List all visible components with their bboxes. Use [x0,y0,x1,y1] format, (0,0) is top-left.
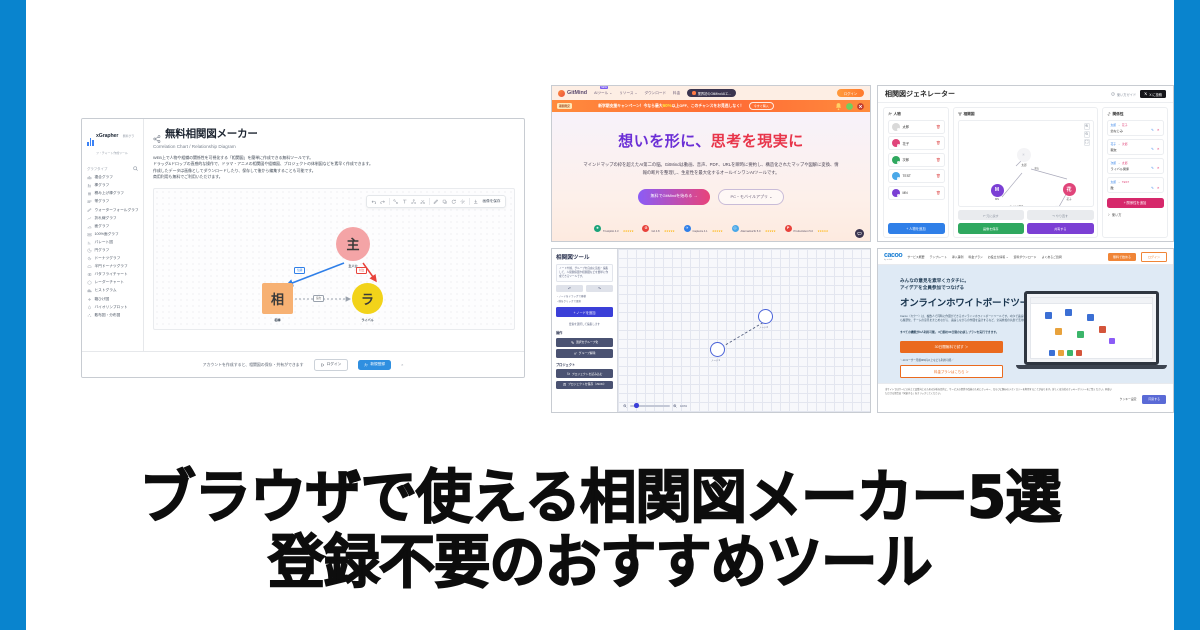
nav-item-ai-tools[interactable]: AIツール ⌄ NEW [594,91,612,96]
group-selection-button[interactable]: 選択をグループ化 [556,338,613,347]
rating-site-name: AlternativeTo 5.0 [741,230,761,233]
cacoo-logo[interactable]: cacoo by nulab [884,252,902,261]
node-mn[interactable]: M [991,184,1004,197]
gitmind-logo-icon [558,90,565,97]
xgrapher-sidebar: xGrapher 無料グラフ・チャート作成ツール グラフタイプ 複合グラフ 棒グ… [82,119,144,351]
sidebar-item-label: 積み上げ棒グラフ [95,191,125,196]
login-button[interactable]: ログイン [314,359,349,371]
chart-type-icon [87,305,92,310]
history-buttons: ↶ ↷ [556,285,613,292]
sidebar-item-12[interactable]: バタフライチャート [85,271,140,279]
person-name: 花子 [903,141,910,146]
arrow-icon: → [1118,142,1121,146]
sidebar-item-label: 散布図・分布図 [95,313,121,318]
relation-row-1[interactable]: 花子 → 次郎 親友 ✎ ✕ [1107,139,1164,156]
chart-type-icon [87,175,92,180]
diagram-edges [154,189,514,329]
arrow-icon: → [1118,123,1121,127]
gitmind-logo[interactable]: GitMind [558,90,587,97]
add-relation-button[interactable]: + 関係性を追加 [1107,198,1164,208]
avatar [892,189,900,197]
brand-name: xGrapher [96,133,118,139]
rating-site-name: Trustpilot 4.3 [603,230,618,233]
sidebar-section-label: グラフタイプ [87,166,107,171]
nav-item-6[interactable]: よくあるご質問 [1042,255,1062,259]
promo-button[interactable]: 今すぐ購入 [749,102,774,110]
sidebar-item-9[interactable]: 円グラフ [85,246,140,254]
sidebar-item-13[interactable]: レーダーチャート [85,279,140,287]
delete-relation-icon[interactable]: ✕ [1157,166,1160,170]
relation-to: 太郎 [1122,161,1128,165]
delete-relation-icon[interactable]: ✕ [1157,147,1160,151]
relation-from: 花子 [1111,142,1117,146]
delete-relation-icon[interactable]: ✕ [1157,128,1160,132]
rating-badge-2[interactable]: ✈ Capterra 4.1 ★★★★★ [684,219,723,237]
xgrapher-main: 無料相関図メーカー Correlation Chart / Relationsh… [144,119,524,351]
group-section-label: 操作 [556,330,613,335]
relation-label: 幼なじみ [1111,128,1123,133]
thumbnail-canvas: xGrapher 無料グラフ・チャート作成ツール グラフタイプ 複合グラフ 棒グ… [0,0,1200,630]
cookie-settings-button[interactable]: クッキー設定 [1120,397,1137,401]
login-icon [321,363,325,367]
usage-guide-link[interactable]: 使い方ガイド [1111,92,1136,97]
person-name: 太郎 [903,124,910,129]
ungroup-button[interactable]: グループ解除 [556,349,613,358]
rating-badge-1[interactable]: G G2 4.8 ★★★★★ [642,219,674,237]
nav-item-0[interactable]: サービス概要 [907,255,924,259]
arrow-icon: → [1118,180,1121,184]
whiteboard-preview [1030,297,1153,359]
headline-line-2: 登録不要のおすすめツール [43,530,1157,596]
sidebar-item-5[interactable]: 折れ線グラフ [85,214,140,222]
relation-endpoints: 太郎 → TEST [1111,180,1160,184]
sidebar-item-label: 箱ひげ図 [95,297,110,302]
generator-header: 相関図ジェネレーター 使い方ガイド X に投稿 [878,86,1173,103]
zoom-slider[interactable] [630,405,670,407]
trial-button[interactable]: 30日間無料で試す ＞ [900,341,1003,353]
apps-dropdown-button[interactable]: PC・モバイルアプリ ⌄ [718,189,784,205]
promo-banner[interactable]: 期間限定 新学期支援キャンペーン！今なら最大60%以上OFF、このチャンスをお見… [552,100,870,112]
diagram-edge-label[interactable]: 協力 [313,295,324,302]
node-label: 花子 [1062,197,1077,201]
brand-sub: by nulab [884,259,902,261]
edit-relation-icon[interactable]: ✎ [1151,166,1154,170]
tool-sidebar: 相関図ツール ノードや線、グループを自由に追加・編集して、人間関係図や相関図など… [552,249,618,412]
edit-relation-icon[interactable]: ✎ [1151,128,1154,132]
rating-badges: ★ Trustpilot 4.3 ★★★★★ G G2 4.8 ★★★★★ ✈ … [552,219,870,237]
sidebar-item-16[interactable]: バイオリンプロット [85,303,140,311]
zoom-in-icon[interactable] [673,404,677,408]
sidebar-item-label: パレート図 [95,240,113,245]
zoom-control: 100% [623,404,687,408]
help-icon [1111,92,1115,96]
sidebar-item-17[interactable]: 散布図・分布図 [85,311,140,319]
headline-block: ブラウザで使える相関図メーカー5選 登録不要のおすすめツール [26,465,1174,596]
sidebar-item-0[interactable]: 複合グラフ [85,174,140,182]
share-button[interactable]: 共有する [1027,223,1094,233]
sidebar-item-label: 半円ドーナツグラフ [95,264,128,269]
people-panel: 人物 太郎 🗑 花子 🗑 次郎 🗑 TEST 🗑 MN 🗑 + 人物を追加 [883,107,949,238]
rating-badge-3[interactable]: ◎ AlternativeTo 5.0 ★★★★★ [732,219,776,237]
sidebar-item-label: 複合グラフ [95,175,113,180]
avatar [892,139,900,147]
hero-title: 想いを形に、思考を現実に [552,130,870,151]
relations-list: 太郎 → 花子 幼なじみ ✎ ✕ 花子 → 次郎 親友 ✎ ✕ 次郎 → [1107,120,1164,196]
chart-type-icon [87,248,92,253]
delete-person-icon[interactable]: 🗑 [936,174,941,178]
chart-type-icon [87,240,92,245]
sidebar-item-label: 棒グラフ [95,183,110,188]
folder-open-icon [567,372,570,375]
sidebar-item-label: 100%面グラフ [95,232,119,237]
people-list: 太郎 🗑 花子 🗑 次郎 🗑 TEST 🗑 MN 🗑 [888,120,945,203]
rating-stars: ★★★★★ [664,230,675,233]
sidebar-item-label: 面グラフ [95,224,110,229]
cacoo-hero: みんなの意見を素早くカタチに。 アイデアを全員参加でつなげる オンラインホワイト… [878,265,1173,383]
nav-item-1[interactable]: テンプレート [930,255,947,259]
screenshot-gitmind: GitMind AIツール ⌄ NEW リソース ⌄ ダウンロード 料金 業界初… [551,85,871,242]
edit-relation-icon[interactable]: ✎ [1151,186,1154,190]
nav-item-resources[interactable]: リソース ⌄ [619,91,637,96]
save-disk-icon [563,383,566,386]
page-title: 無料相関図メーカー [165,126,258,141]
howto-section[interactable]: 使い方 [1107,212,1164,217]
relation-row-0[interactable]: 太郎 → 花子 幼なじみ ✎ ✕ [1107,120,1164,137]
rating-badge-0[interactable]: ★ Trustpilot 4.3 ★★★★★ [594,219,633,237]
chart-type-icon [87,199,92,204]
delete-relation-icon[interactable]: ✕ [1157,186,1160,190]
correlation-canvas[interactable]: M MN 花 花子 T TEST 次 次郎 ✳ 太郎 親友 ライバル関係 対立 [958,120,1094,208]
chart-panel-header: 相関図 [958,112,1094,117]
nav-announcement-label: 業界初のGitMind AIエ... [698,91,731,96]
rating-site-icon: G [642,225,649,232]
signup-button[interactable]: 新規登録 [358,360,391,370]
screenshot-correlation-generator: 相関図ジェネレーター 使い方ガイド X に投稿 人物 太郎 [877,85,1174,242]
chart-type-icon [87,232,92,237]
login-button[interactable]: ログイン [1141,252,1167,262]
chart-type-icon [87,208,92,213]
selection-note: 要素を選択して編集します [556,322,613,326]
xgrapher-footer-bar: アカウントを作成すると、相関図の保存・共有ができます ログイン 新規登録 × [82,351,524,377]
x-logo-icon [1144,92,1147,95]
edge-label: ライバル関係 [1010,204,1024,208]
person-row-0[interactable]: 太郎 🗑 [888,120,945,134]
delete-person-icon[interactable]: 🗑 [936,125,941,129]
relations-panel-header: 関係性 [1107,112,1164,117]
gift-icon [845,102,854,111]
close-icon[interactable] [856,102,865,111]
arrow-icon: → [1118,161,1121,165]
undo-button[interactable]: ↶ [556,285,583,292]
relation-endpoints: 花子 → 次郎 [1111,142,1160,146]
sidebar-item-4[interactable]: ウォーターフォールグラフ [85,206,140,214]
relations-panel: 関係性 太郎 → 花子 幼なじみ ✎ ✕ 花子 → 次郎 親友 ✎ ✕ [1102,107,1168,238]
sidebar-item-label: ドーナツグラフ [95,256,121,261]
nav-item-4[interactable]: お役立ち情報 ⌄ [988,255,1009,259]
load-project-button[interactable]: プロジェクトを読み込む [556,369,613,378]
rating-stars: ★★★★★ [765,230,776,233]
diagram-node-caption: 相棒 [262,317,293,322]
rating-stars: ★★★★★ [623,230,634,233]
edit-relation-icon[interactable]: ✎ [1151,147,1154,151]
export-buttons: 画像を保存 共有する [958,223,1094,233]
sidebar-item-3[interactable]: 帯グラフ [85,198,140,206]
relation-from: 太郎 [1111,180,1117,184]
relation-endpoints: 次郎 → 太郎 [1111,161,1160,165]
share-x-button[interactable]: X に投稿 [1140,90,1166,98]
sidebar-item-8[interactable]: パレート図 [85,238,140,246]
rating-site-name: ProductHunt 5.0 [794,230,813,233]
history-buttons: ↶ 元に戻す ↷ やり直す [958,210,1094,220]
promo-icon-group [834,102,865,111]
user-plus-icon [364,363,368,367]
promo-tag: 期間限定 [557,103,572,108]
chart-type-icon [87,297,92,302]
person-row-3[interactable]: TEST 🗑 [888,169,945,183]
network-icon [958,112,962,116]
cookie-banner: 当サイトではサービス向上と品質向上のための分析を目的に、サービスの提供や改善のた… [878,383,1173,413]
relation-row-2[interactable]: 次郎 → 太郎 ライバル関係 ✎ ✕ [1107,158,1164,175]
rating-badge-4[interactable]: P ProductHunt 5.0 ★★★★★ [785,219,828,237]
rating-site-icon: ✈ [684,225,691,232]
nav-item-3[interactable]: 料金プラン [968,255,982,259]
xgrapher-logo[interactable]: xGrapher 無料グラフ・チャート作成ツール [85,123,140,163]
sidebar-item-label: 円グラフ [95,248,110,253]
relation-from: 太郎 [1111,123,1117,127]
person-name: 次郎 [903,157,910,162]
sidebar-item-label: レーダーチャート [95,280,124,285]
avatar [892,156,900,164]
sidebar-item-6[interactable]: 面グラフ [85,222,140,230]
diagram-node-rival[interactable]: ラ [352,283,383,314]
laptop-screen [1024,291,1159,365]
promo-text: 新学期支援キャンペーン！今なら最大60%以上OFF、このチャンスをお見逃しなく！ [598,103,744,109]
sidebar-item-2[interactable]: 積み上げ棒グラフ [85,190,140,198]
zoom-out-icon[interactable] [623,404,627,408]
chart-type-icon [87,313,92,318]
nav-item-download[interactable]: ダウンロード [644,91,666,96]
canvas-node-label: ノード2 [759,325,768,329]
chat-fab-button[interactable] [855,229,864,238]
avatar [892,172,900,180]
relation-row-3[interactable]: 太郎 → TEST 敵 ✎ ✕ [1107,177,1164,194]
save-image-button[interactable]: 画像を保存 [958,223,1025,233]
ungroup-icon [574,352,577,355]
edge-label: 親友 [1035,166,1040,170]
chart-type-icon [87,288,92,293]
node-hanako[interactable]: 花 [1063,183,1076,196]
redo-button[interactable]: ↷ [586,285,613,292]
sidebar-item-15[interactable]: 箱ひげ図 [85,295,140,303]
chat-icon [857,231,862,236]
brand-name: GitMind [567,90,587,96]
delete-person-icon[interactable]: 🗑 [936,141,941,145]
rating-stars: ★★★★★ [817,230,828,233]
signup-label: 新規登録 [370,362,385,367]
sidebar-item-11[interactable]: 半円ドーナツグラフ [85,263,140,271]
sidebar-item-label: バタフライチャート [95,272,128,277]
sidebar-item-label: ウォーターフォールグラフ [95,208,139,213]
relation-endpoints: 太郎 → 花子 [1111,123,1160,127]
login-button[interactable]: ログイン [837,89,864,98]
hero-cta-group: 無料でGitMindを始める → PC・モバイルアプリ ⌄ [552,189,870,205]
nav-item-2[interactable]: 導入事例 [952,255,964,259]
sparkle-icon [692,91,696,95]
sidebar-item-label: バイオリンプロット [95,305,128,310]
add-node-button[interactable]: + ノードを追加 [556,307,613,317]
sidebar-item-14[interactable]: ヒストグラム [85,287,140,295]
app-title: 相関図ツール [556,253,613,261]
laptop-base [1016,365,1167,369]
sidebar-item-list: 複合グラフ 棒グラフ 積み上げ棒グラフ 帯グラフ ウォーターフォールグラフ 折れ… [85,174,140,320]
screenshot-cacoo: cacoo by nulab サービス概要 テンプレート 導入事例 料金プラン … [877,248,1174,413]
sidebar-item-7[interactable]: 100%面グラフ [85,230,140,238]
avatar [892,123,900,131]
chevron-right-icon [1107,213,1110,216]
redo-button[interactable]: ↷ やり直す [1027,210,1094,220]
rating-site-icon: P [785,225,792,232]
nav-item-5[interactable]: 資料ダウンロード [1013,255,1036,259]
chart-type-icon [87,224,92,229]
sidebar-item-label: 折れ線グラフ [95,216,117,221]
canvas-node-2[interactable] [758,309,773,324]
chart-type-icon [87,272,92,277]
page-subtitle: Correlation Chart / Relationship Diagram [153,144,515,149]
rating-stars: ★★★★★ [712,230,723,233]
relation-label: 敵 [1111,185,1114,190]
login-label: ログイン [327,362,342,367]
chart-type-icon [87,264,92,269]
hero-description: マインドマップの枠を超えたAI第二の脳。GitMindは動画、音声、PDF、UR… [552,161,870,176]
relation-to: TEST [1122,180,1129,184]
sidebar-item-label: 帯グラフ [95,199,110,204]
canvas-node-label: ノード1 [711,358,720,362]
new-badge: NEW [600,86,608,90]
node-taro[interactable]: ✳ [1017,148,1031,162]
relation-label: 親友 [1111,147,1117,152]
description-line-3: 商用利用も無料でご利用いただけます。 [153,174,515,180]
page-title-row: 無料相関図メーカー [153,126,515,141]
person-name: TEST [903,174,911,178]
chart-type-icon [87,216,92,221]
node-label: MN [991,198,1004,201]
person-row-2[interactable]: 次郎 🗑 [888,153,945,167]
chart-type-icon [87,256,92,261]
chart-type-icon [87,280,92,285]
search-icon[interactable] [133,166,138,172]
undo-button[interactable]: ↶ 元に戻す [958,210,1025,220]
zoom-percent: 100% [680,404,687,408]
rating-site-name: Capterra 4.1 [693,230,708,233]
relation-to: 花子 [1122,123,1128,127]
hint-line-1: ・ノードをドラッグで移動 [556,295,613,299]
chart-type-icon [87,191,92,196]
cookie-accept-button[interactable]: 同意する [1142,395,1166,404]
group-icon [571,341,574,344]
diagram-edge-label[interactable]: 信頼 [294,267,305,274]
people-panel-header: 人物 [888,112,945,117]
relation-from: 次郎 [1111,161,1117,165]
tool-canvas-edges [618,249,870,412]
add-person-button[interactable]: + 人物を追加 [888,223,945,233]
footer-note: アカウントを作成すると、相関図の保存・共有ができます [203,362,304,368]
bar-chart-logo-icon [87,138,94,146]
relation-to: 次郎 [1122,142,1128,146]
save-project-button[interactable]: プロジェクトを保存（JSON） [556,381,613,389]
rating-site-name: G2 4.8 [651,230,659,233]
chart-type-icon [87,183,92,188]
page-description: WEB上で人物や組織の関係性を可視化する「相関図」を簡単に作成できる無料ツールで… [153,155,515,181]
share-nodes-icon [153,130,161,138]
sidebar-item-1[interactable]: 棒グラフ [85,182,140,190]
start-free-button[interactable]: 無料で始める [1108,253,1136,261]
rating-site-icon: ★ [594,225,601,232]
link-icon [1107,112,1111,116]
cacoo-navbar: cacoo by nulab サービス概要 テンプレート 導入事例 料金プラン … [878,249,1173,265]
node-label: 太郎 [1015,163,1034,167]
app-title: 相関図ジェネレーター [885,89,955,99]
diagram-node-partner[interactable]: 相 [262,283,293,314]
nav-item-pricing[interactable]: 料金 [673,91,680,96]
edge-label: 対立 [1055,205,1060,208]
sidebar-item-10[interactable]: ドーナツグラフ [85,255,140,263]
start-free-button[interactable]: 無料でGitMindを始める → [638,189,711,205]
diagram-edge-label[interactable]: 対立 [356,267,367,274]
chart-panel: 相関図 M MN [953,107,1098,238]
cookie-text: 当サイトではサービス向上と品質向上のための分析を目的に、サービスの提供や改善のた… [885,388,1114,396]
sidebar-item-label: ヒストグラム [95,288,117,293]
canvas-node-1[interactable] [710,342,725,357]
sidebar-section-header: グラフタイプ [85,163,140,174]
rating-site-icon: ◎ [732,225,739,232]
person-row-1[interactable]: 花子 🗑 [888,136,945,150]
person-name: MN [903,191,908,195]
relation-label: ライバル関係 [1111,166,1130,171]
screenshot-correlation-tool: 相関図ツール ノードや線、グループを自由に追加・編集して、人間関係図や相関図など… [551,248,871,413]
screenshot-xgrapher: xGrapher 無料グラフ・チャート作成ツール グラフタイプ 複合グラフ 棒グ… [81,118,525,378]
close-icon[interactable]: × [401,362,403,367]
bell-icon [834,102,843,111]
laptop-illustration [1024,291,1159,369]
delete-person-icon[interactable]: 🗑 [936,158,941,162]
project-section-label: プロジェクト [556,362,613,367]
tool-canvas[interactable]: ノード2 ノード1 100% [618,249,870,412]
gitmind-hero: 想いを形に、思考を現実に マインドマップの枠を超えたAI第二の脳。GitMind… [552,112,870,242]
diagram-node-caption: ライバル [349,317,386,322]
delete-person-icon[interactable]: 🗑 [936,191,941,195]
diagram-node-main[interactable]: 主 [336,227,370,261]
person-row-4[interactable]: MN 🗑 [888,186,945,200]
gitmind-navbar: GitMind AIツール ⌄ NEW リソース ⌄ ダウンロード 料金 業界初… [552,86,870,100]
pricing-button[interactable]: 料金プランはこちら ＞ [900,365,1003,378]
app-description: ノードや線、グループを自由に追加・編集して、人間関係図や相関図などを簡単に作成で… [556,264,613,282]
headline-line-1: ブラウザで使える相関図メーカー5選 [43,465,1157,531]
hint-line-2: ・線をクリックで選択 [556,300,613,304]
people-icon [888,112,892,116]
diagram-canvas[interactable]: 画像を保存 主 主人公 相 [153,188,515,330]
nav-announcement-pill[interactable]: 業界初のGitMind AIエ... [687,89,736,97]
